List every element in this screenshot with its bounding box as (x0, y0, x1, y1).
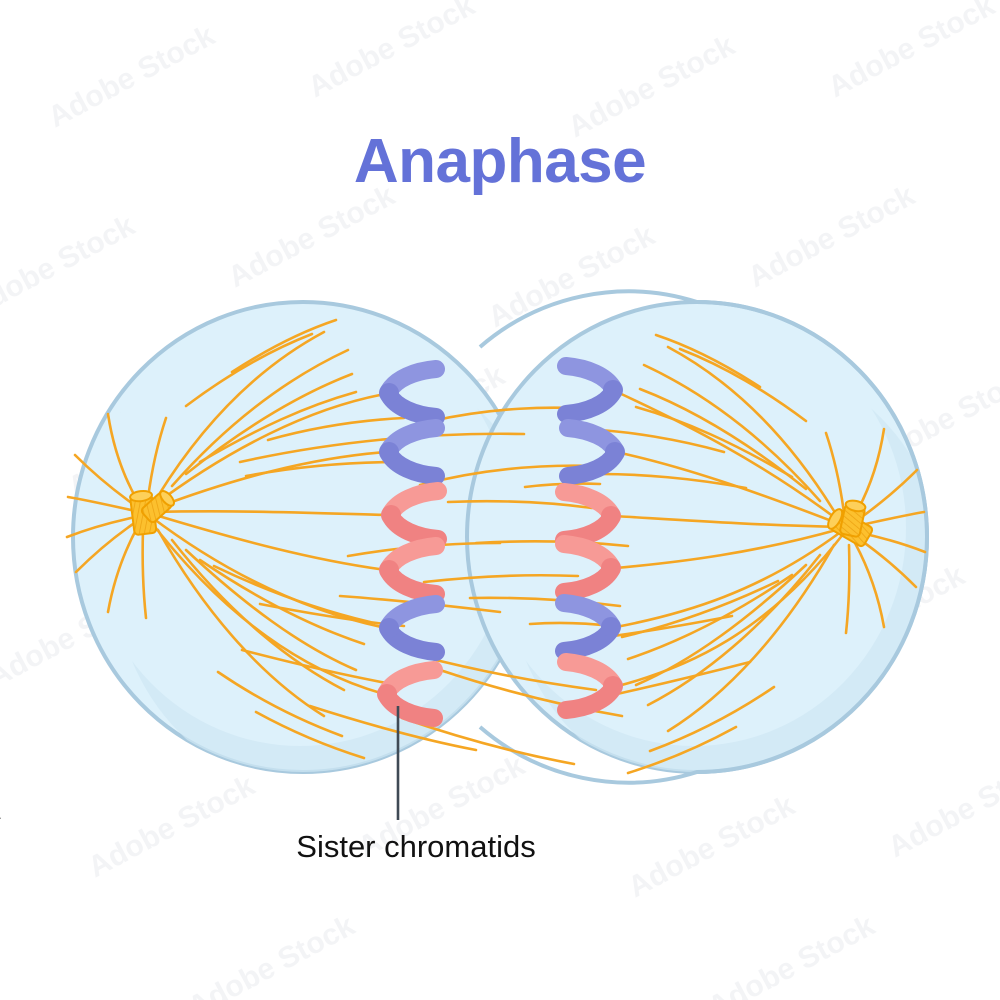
adobe-stock-watermark: Adobe Stock | #429512672 (0, 714, 2, 924)
sister-chromatids-label: Sister chromatids (0, 828, 1000, 865)
sister-chromatids-label-text: Sister chromatids (296, 828, 535, 865)
diagram-canvas: Adobe Stock Adobe Stock Adobe Stock Adob… (0, 0, 1000, 1000)
daughter-cell-right (467, 291, 945, 797)
